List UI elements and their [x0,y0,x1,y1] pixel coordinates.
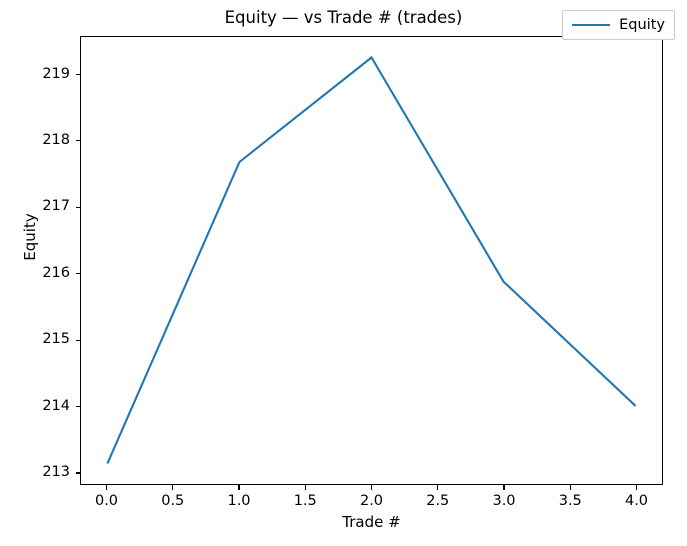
x-tick-mark [636,485,637,490]
y-tick-label: 218 [14,132,70,148]
x-tick-label: 2.0 [342,493,402,509]
x-tick-label: 3.0 [474,493,534,509]
y-tick-label: 213 [14,464,70,480]
y-tick-label: 215 [14,331,70,347]
legend-label-equity: Equity [619,17,665,33]
x-tick-label: 2.5 [408,493,468,509]
x-axis-label: Trade # [80,513,663,531]
x-tick-mark [437,485,438,490]
x-tick-label: 1.5 [275,493,335,509]
x-tick-mark [305,485,306,490]
chart-legend: Equity [562,10,675,40]
y-tick-label: 216 [14,265,70,281]
x-tick-mark [106,485,107,490]
y-tick-label: 217 [14,198,70,214]
matplotlib-figure: Equity — vs Trade # (trades) Equity Trad… [0,0,687,546]
x-tick-mark [371,485,372,490]
x-tick-label: 0.5 [143,493,203,509]
y-tick-label: 219 [14,66,70,82]
x-tick-label: 3.5 [540,493,600,509]
x-tick-mark [570,485,571,490]
equity-line-chart [81,37,662,484]
x-tick-label: 1.0 [209,493,269,509]
equity-line-series [107,57,635,463]
x-tick-mark [172,485,173,490]
x-tick-label: 4.0 [607,493,667,509]
y-tick-label: 214 [14,398,70,414]
x-tick-mark [503,485,504,490]
legend-color-swatch-equity [572,24,610,26]
x-tick-label: 0.0 [77,493,137,509]
x-tick-mark [238,485,239,490]
plot-area [80,36,663,485]
